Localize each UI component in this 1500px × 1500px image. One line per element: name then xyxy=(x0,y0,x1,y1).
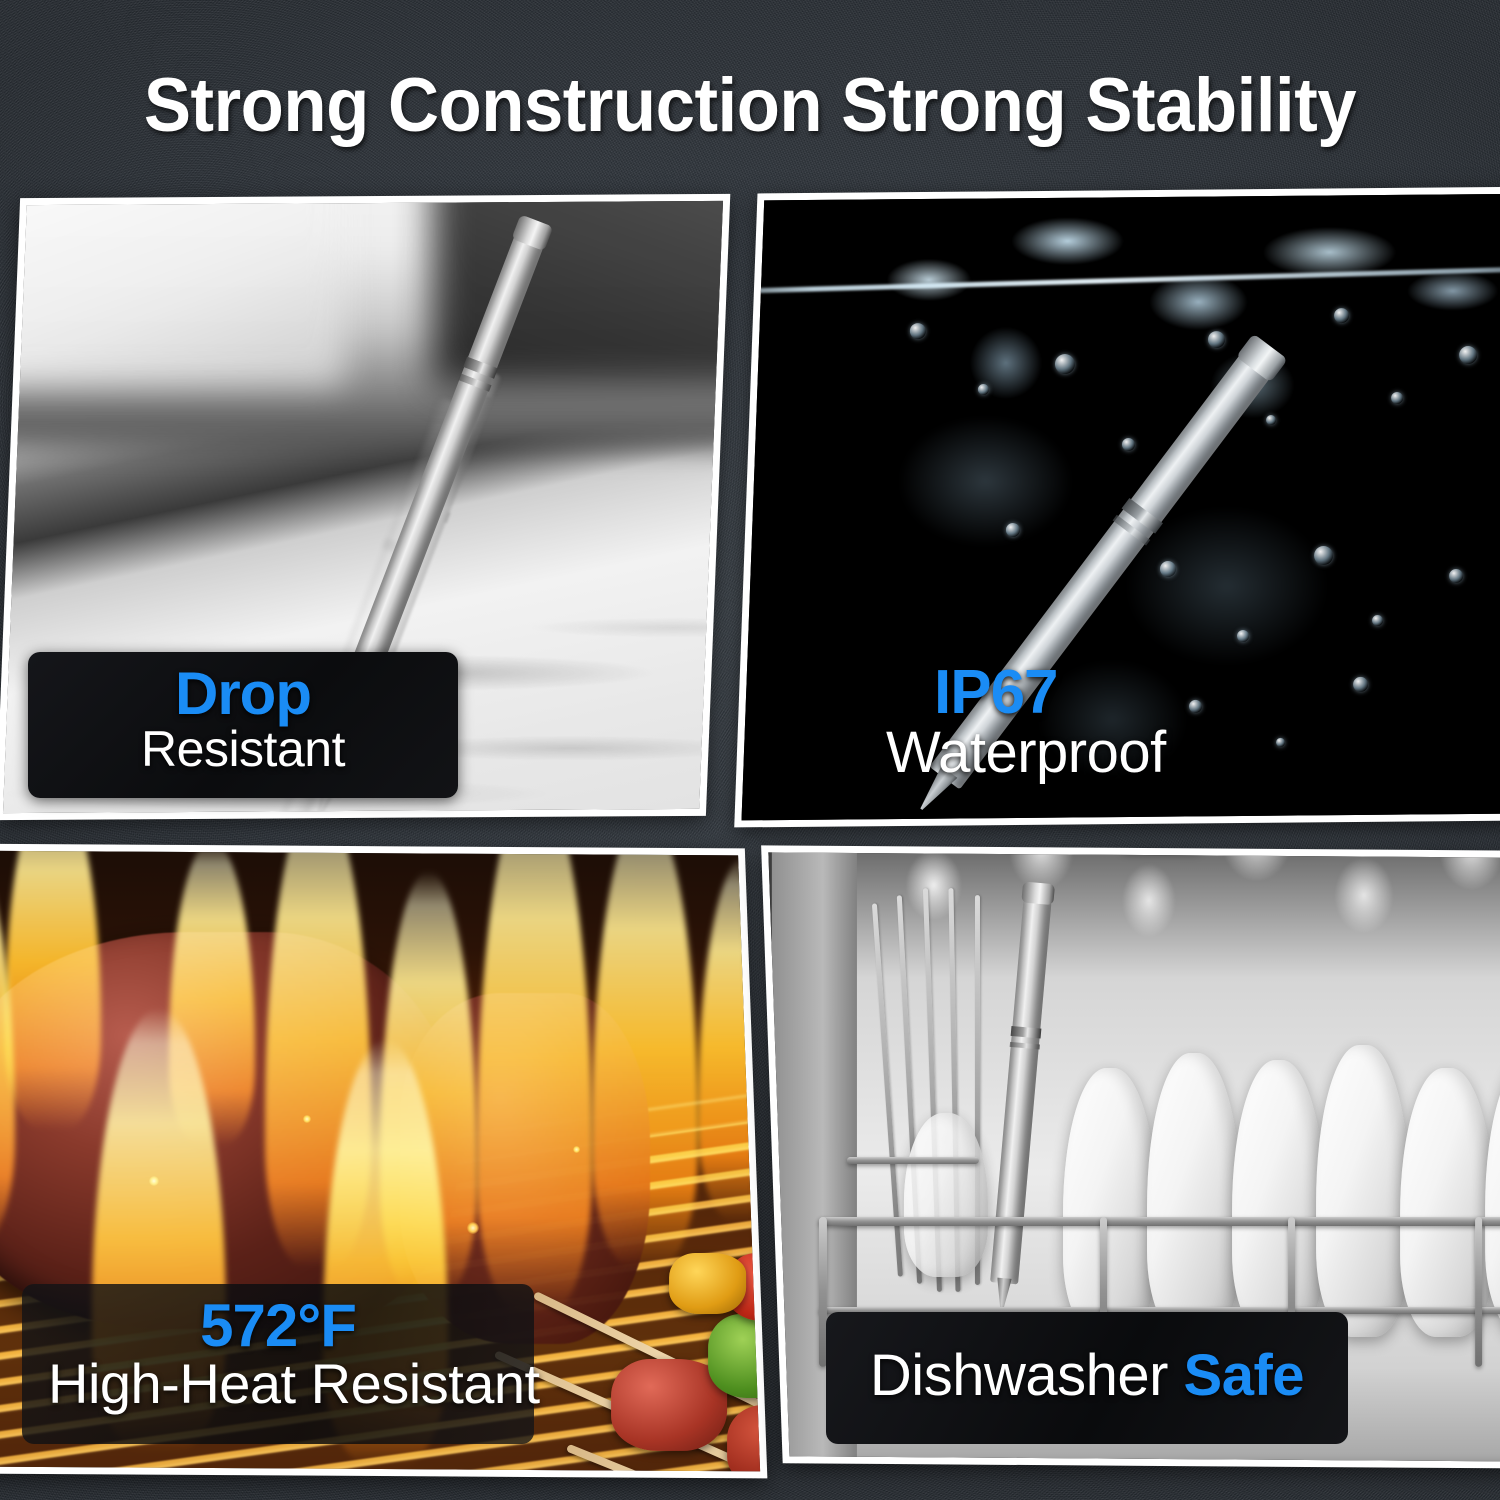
caption-dishwasher-safe: Dishwasher Safe xyxy=(826,1312,1348,1444)
infographic-canvas: Strong Construction Strong Stability xyxy=(0,0,1500,1500)
caption-waterproof-primary: IP67 xyxy=(886,662,1316,724)
skewer-green-pepper xyxy=(707,1314,760,1398)
caption-heat-primary: 572°F xyxy=(48,1296,508,1356)
caption-heat-secondary: High-Heat Resistant xyxy=(48,1356,508,1412)
caption-waterproof: IP67 Waterproof xyxy=(860,650,1342,803)
page-title: Strong Construction Strong Stability xyxy=(53,62,1448,149)
caption-dishwasher-primary: Dishwasher xyxy=(870,1343,1168,1408)
caption-dishwasher-secondary: Safe xyxy=(1184,1343,1305,1408)
caption-waterproof-secondary: Waterproof xyxy=(886,724,1316,782)
caption-dishwasher-line: Dishwasher Safe xyxy=(870,1347,1304,1405)
caption-drop-resistant: Drop Resistant xyxy=(28,652,458,798)
caption-drop-primary: Drop xyxy=(54,664,432,724)
caption-high-heat-resistant: 572°F High-Heat Resistant xyxy=(22,1284,534,1444)
skewer-yellow-pepper xyxy=(669,1253,746,1314)
caption-drop-secondary: Resistant xyxy=(54,724,432,774)
